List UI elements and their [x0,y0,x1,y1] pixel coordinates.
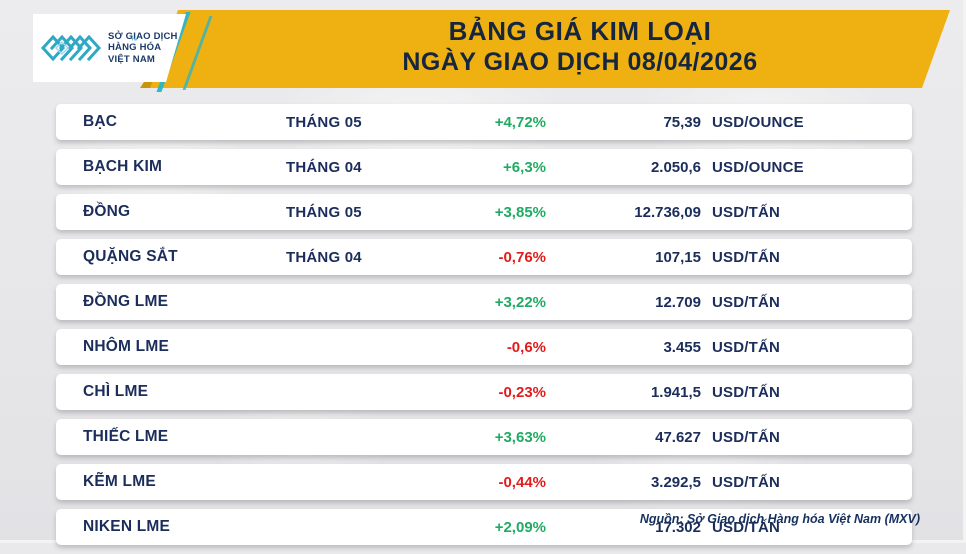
row-unit: USD/TẤN [712,429,780,446]
logo-line-2: HÀNG HÓA [108,42,178,54]
table-row: BẠCTHÁNG 05+4,72%75,39USD/OUNCE [56,104,912,140]
row-price: 12.736,09 [556,204,701,221]
row-commodity-name: THIẾC LME [83,428,168,446]
row-contract-month: THÁNG 04 [286,249,362,266]
row-unit: USD/TẤN [712,474,780,491]
row-price: 3.455 [556,339,701,356]
source-note: Nguồn: Sở Giao dịch Hàng hóa Việt Nam (M… [640,512,920,526]
row-price: 12.709 [556,294,701,311]
mxv-chevron-logo-icon [41,28,103,68]
row-price: 47.627 [556,429,701,446]
row-commodity-name: QUẶNG SẮT [83,248,178,266]
row-unit: USD/OUNCE [712,159,804,176]
table-row: BẠCH KIMTHÁNG 04+6,3%2.050,6USD/OUNCE [56,149,912,185]
page-header: SỞ GIAO DỊCH HÀNG HÓA VIỆT NAM ™ BẢNG GI… [0,0,966,97]
row-price: 107,15 [556,249,701,266]
table-row: KẼM LME-0,44%3.292,5USD/TẤN [56,464,912,500]
row-change-percent: -0,76% [386,249,546,266]
row-commodity-name: NHÔM LME [83,338,169,356]
row-unit: USD/TẤN [712,339,780,356]
row-change-percent: +3,85% [386,204,546,221]
page-title: BẢNG GIÁ KIM LOẠI NGÀY GIAO DỊCH 08/04/2… [260,16,900,78]
row-commodity-name: CHÌ LME [83,383,148,401]
row-commodity-name: KẼM LME [83,473,156,491]
row-change-percent: -0,6% [386,339,546,356]
row-unit: USD/TẤN [712,384,780,401]
row-unit: USD/TẤN [712,249,780,266]
logo-wordmark: SỞ GIAO DỊCH HÀNG HÓA VIỆT NAM [108,31,178,66]
table-row: ĐỒNGTHÁNG 05+3,85%12.736,09USD/TẤN [56,194,912,230]
row-commodity-name: NIKEN LME [83,518,170,536]
table-row: THIẾC LME+3,63%47.627USD/TẤN [56,419,912,455]
row-commodity-name: ĐỒNG LME [83,293,168,311]
row-contract-month: THÁNG 05 [286,114,362,131]
row-change-percent: +3,63% [386,429,546,446]
table-row: QUẶNG SẮTTHÁNG 04-0,76%107,15USD/TẤN [56,239,912,275]
table-row: CHÌ LME-0,23%1.941,5USD/TẤN [56,374,912,410]
row-change-percent: +3,22% [386,294,546,311]
row-change-percent: -0,23% [386,384,546,401]
row-price: 1.941,5 [556,384,701,401]
row-change-percent: -0,44% [386,474,546,491]
logo-card: SỞ GIAO DỊCH HÀNG HÓA VIỆT NAM ™ [33,14,186,82]
row-commodity-name: BẠCH KIM [83,158,162,176]
table-row: ĐỒNG LME+3,22%12.709USD/TẤN [56,284,912,320]
trademark-icon: ™ [131,38,138,45]
row-unit: USD/OUNCE [712,114,804,131]
row-unit: USD/TẤN [712,204,780,221]
row-price: 2.050,6 [556,159,701,176]
row-unit: USD/TẤN [712,294,780,311]
row-price: 75,39 [556,114,701,131]
logo-line-3: VIỆT NAM [108,54,178,66]
row-change-percent: +6,3% [386,159,546,176]
title-line-2: NGÀY GIAO DỊCH 08/04/2026 [260,47,900,78]
title-line-1: BẢNG GIÁ KIM LOẠI [260,16,900,47]
row-price: 3.292,5 [556,474,701,491]
row-contract-month: THÁNG 04 [286,159,362,176]
table-row: NHÔM LME-0,6%3.455USD/TẤN [56,329,912,365]
logo-line-1: SỞ GIAO DỊCH [108,31,178,43]
row-commodity-name: BẠC [83,113,117,131]
metal-price-table: BẠCTHÁNG 05+4,72%75,39USD/OUNCEBẠCH KIMT… [0,104,966,554]
row-change-percent: +4,72% [386,114,546,131]
row-change-percent: +2,09% [386,519,546,536]
row-contract-month: THÁNG 05 [286,204,362,221]
row-commodity-name: ĐỒNG [83,203,130,221]
